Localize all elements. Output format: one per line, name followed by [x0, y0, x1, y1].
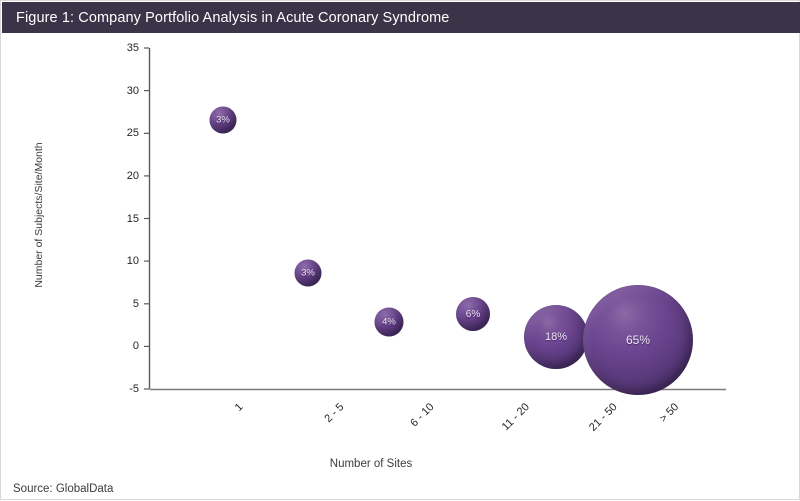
- y-tick-label: 15: [105, 213, 139, 225]
- bubble-label: 3%: [216, 115, 230, 126]
- y-axis-ticks: [144, 48, 149, 389]
- y-tick-label: -5: [105, 383, 139, 395]
- x-axis-title: Number of Sites: [151, 458, 591, 470]
- bubble-point[interactable]: 6%: [456, 297, 490, 331]
- bubble-label: 18%: [545, 331, 567, 343]
- bubble-point[interactable]: 3%: [210, 107, 237, 134]
- bubble-point[interactable]: 18%: [524, 305, 588, 369]
- bubble-point[interactable]: 65%: [583, 285, 693, 395]
- y-tick-label: 25: [105, 127, 139, 139]
- bubble-point[interactable]: 4%: [375, 308, 404, 337]
- bubble-label: 3%: [301, 268, 315, 279]
- bubble-label: 6%: [466, 309, 480, 320]
- y-tick-label: 5: [105, 298, 139, 310]
- figure-title-bar: Figure 1: Company Portfolio Analysis in …: [2, 2, 800, 33]
- y-tick-label: 20: [105, 170, 139, 182]
- bubble-label: 4%: [382, 317, 396, 328]
- y-tick-label: 35: [105, 42, 139, 54]
- y-tick-label: 30: [105, 85, 139, 97]
- bubble-point[interactable]: 3%: [295, 260, 322, 287]
- y-axis-title: Number of Subjects/Site/Month: [33, 115, 45, 315]
- figure-title: Figure 1: Company Portfolio Analysis in …: [2, 10, 449, 26]
- y-tick-label: 0: [105, 340, 139, 352]
- figure-container: Figure 1: Company Portfolio Analysis in …: [0, 0, 800, 500]
- source-note: Source: GlobalData: [13, 483, 113, 495]
- plot-area: 35 30 25 20 15 10 5 0 -5 1 2 - 5 6 - 10 …: [1, 33, 800, 501]
- bubble-label: 65%: [626, 333, 650, 347]
- y-tick-label: 10: [105, 255, 139, 267]
